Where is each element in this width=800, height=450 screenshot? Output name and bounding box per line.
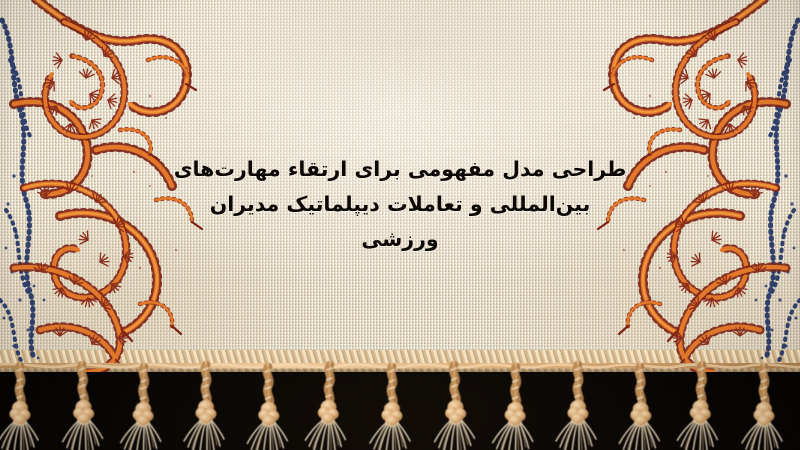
title-line-3: ورزشی [165, 222, 635, 257]
title-slide: طراحی مدل مفهومی برای ارتقاء مهارت‌های ب… [0, 0, 800, 450]
slide-title: طراحی مدل مفهومی برای ارتقاء مهارت‌های ب… [165, 152, 635, 257]
title-line-1: طراحی مدل مفهومی برای ارتقاء مهارت‌های [165, 152, 635, 187]
title-line-2: بین‌المللی و تعاملات دیپلماتیک مدیران [165, 187, 635, 222]
knotted-tassel-fringe [0, 356, 800, 450]
